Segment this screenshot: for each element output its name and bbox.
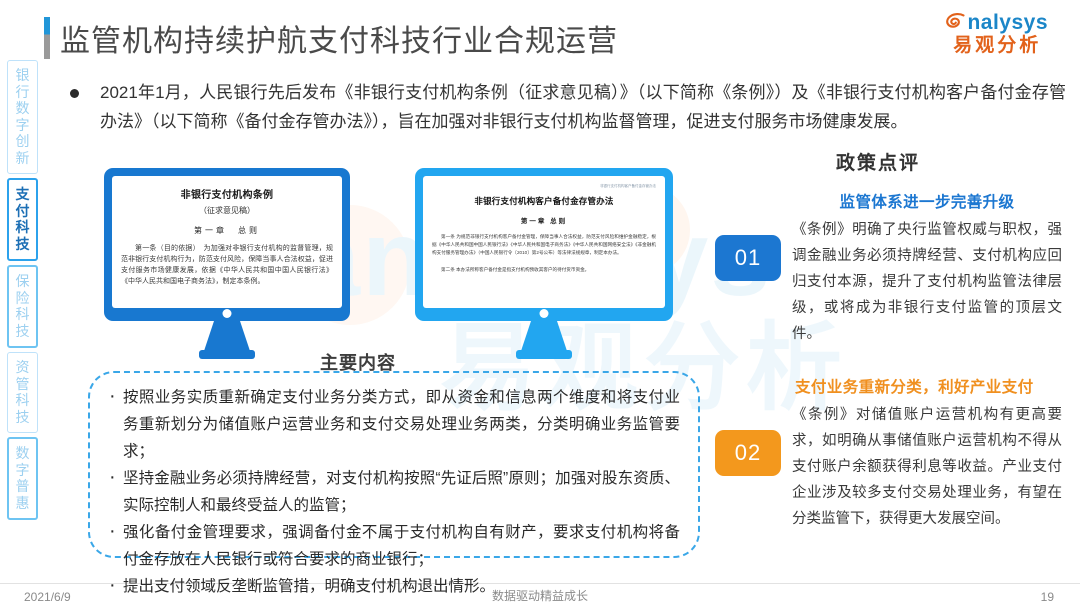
logo-english-wrap: nalysys [946,12,1048,33]
doc-subtitle: （征求意见稿） [121,205,333,216]
sidebar-char: 普 [9,478,36,495]
bullet-dot-icon [70,89,79,98]
policy-entry-heading: 监管体系进一步完善升级 [792,190,1062,212]
policy-entry-heading: 支付业务重新分类，利好产业支付 [792,375,1062,397]
sidebar: 银 行 数 字 创 新 支 付 科 技 保 险 科 技 资 管 科 技 数 字 [7,60,40,524]
brand-logo: nalysys 易观分析 [946,12,1048,55]
logo-chinese-text: 易观分析 [946,36,1048,55]
doc-body: 第一条（目的依据） 为加强对非银行支付机构的监督管理，规范非银行支付机构行为，防… [121,243,333,287]
sidebar-char: 技 [8,409,37,426]
monitor-power-dot-icon [223,309,232,318]
sidebar-char: 新 [8,150,37,167]
main-content-item: 提出支付领域反垄断监管措，明确支付机构退出情形。 [106,573,680,600]
intro-paragraph: 2021年1月，人民银行先后发布《非银行支付机构条例（征求意见稿）》（以下简称《… [66,78,1066,136]
monitor-stand [415,321,673,364]
doc-chapter: 第一章 总则 [432,215,656,225]
sidebar-char: 管 [8,376,37,393]
sidebar-char: 数 [9,445,36,462]
doc-body: 第一条 为规范非银行支付机构客户备付金管理，保障当事人合法权益，防范支付风险和维… [432,233,656,257]
policy-entry-01: 监管体系进一步完善升级 《条例》明确了央行监管权威与职权，强调金融业务必须持牌经… [792,190,1062,347]
policy-entry-body: 《条例》明确了央行监管权威与职权，强调金融业务必须持牌经营、支付机构应回归支付本… [792,217,1062,347]
sidebar-char: 保 [9,273,36,290]
main-content-label: 主要内容 [320,349,396,375]
main-content-item: 坚持金融业务必须持牌经营，对支付机构按照“先证后照”原则；加强对股东资质、实际控… [106,465,680,519]
sidebar-char: 字 [9,462,36,479]
sidebar-item-asset-management-tech[interactable]: 资 管 科 技 [7,352,38,433]
sidebar-char: 科 [9,306,36,323]
monitor-regulation-document: 非银行支付机构条例 （征求意见稿） 第一章 总则 第一条（目的依据） 为加强对非… [104,168,350,364]
sidebar-char: 科 [9,219,36,236]
monitor-frame: 非银行支付机构条例 （征求意见稿） 第一章 总则 第一条（目的依据） 为加强对非… [104,168,350,321]
main-content-box: 按照业务实质重新确定支付业务分类方式，即从资金和信息两个维度和将支付业务重新划分… [88,371,700,558]
policy-entry-02: 支付业务重新分类，利好产业支付 《条例》对储值账户运营机构有更高要求，如明确从事… [792,375,1062,532]
monitor-stand [104,321,350,364]
sidebar-char: 行 [8,84,37,101]
monitor-frame: 非银行支付机构客户备付金存管办法 非银行支付机构客户备付金存管办法 第一章 总则… [415,168,673,321]
title-accent-bar [44,17,50,59]
doc-body-2: 第二条 本办法所称客户备付金是指支付机构预收其客户的待付货币资金。 [432,266,656,274]
page-title: 监管机构持续护航支付科技行业合规运营 [60,16,618,60]
sidebar-char: 字 [8,117,37,134]
sidebar-char: 险 [9,290,36,307]
sidebar-char: 数 [8,100,37,117]
footer-page-number: 19 [1041,590,1054,604]
intro-text: 2021年1月，人民银行先后发布《非银行支付机构条例（征求意见稿）》（以下简称《… [100,78,1066,136]
main-content-item: 强化备付金管理要求，强调备付金不属于支付机构自有财产，要求支付机构将备付金存放在… [106,519,680,573]
main-content-item: 按照业务实质重新确定支付业务分类方式，即从资金和信息两个维度和将支付业务重新划分… [106,384,680,465]
doc-title: 非银行支付机构客户备付金存管办法 [432,195,656,207]
policy-entry-body: 《条例》对储值账户运营机构有更高要求，如明确从事储值账户运营机构不得从支付账户余… [792,402,1062,532]
sidebar-char: 支 [9,186,36,203]
sidebar-char: 技 [9,323,36,340]
sidebar-char: 资 [8,359,37,376]
policy-badge-02: 02 [715,430,781,476]
slide-root: analysys 易观分析 监管机构持续护航支付科技行业合规运营 nalysys… [0,0,1080,608]
analysys-swirl-icon [946,13,966,32]
doc-title: 非银行支付机构条例 [121,186,333,201]
sidebar-char: 付 [9,203,36,220]
policy-review-title: 政策点评 [836,148,920,175]
sidebar-item-digital-inclusive-finance[interactable]: 数 字 普 惠 [7,437,38,520]
logo-english-text: nalysys [967,11,1048,34]
sidebar-char: 创 [8,133,37,150]
sidebar-item-bank-digital-innovation[interactable]: 银 行 数 字 创 新 [7,60,38,174]
sidebar-char: 科 [8,392,37,409]
sidebar-item-payment-tech[interactable]: 支 付 科 技 [7,178,38,261]
sidebar-char: 银 [8,67,37,84]
doc-header: 非银行支付机构客户备付金存管办法 [432,184,656,189]
monitor-custody-document: 非银行支付机构客户备付金存管办法 非银行支付机构客户备付金存管办法 第一章 总则… [415,168,673,364]
policy-badge-01: 01 [715,235,781,281]
doc-chapter: 第一章 总则 [121,225,333,236]
sidebar-char: 惠 [9,495,36,512]
sidebar-char: 技 [9,236,36,253]
sidebar-item-insurance-tech[interactable]: 保 险 科 技 [7,265,38,348]
monitor-screen: 非银行支付机构条例 （征求意见稿） 第一章 总则 第一条（目的依据） 为加强对非… [112,176,342,308]
monitor-power-dot-icon [540,309,549,318]
monitor-screen: 非银行支付机构客户备付金存管办法 非银行支付机构客户备付金存管办法 第一章 总则… [423,176,665,308]
